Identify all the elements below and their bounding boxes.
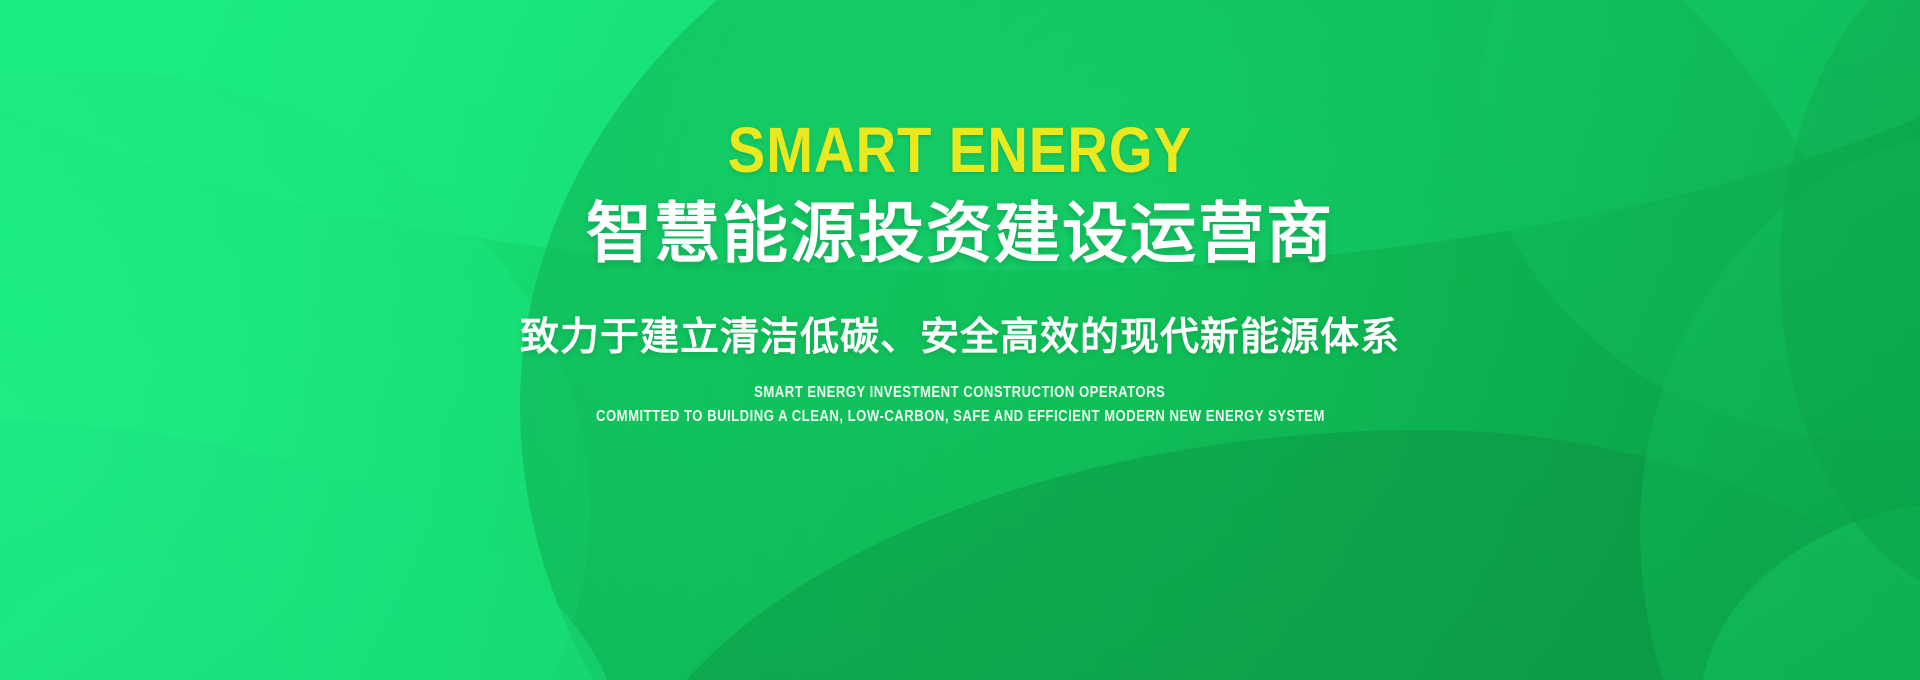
hero-banner: SMART ENERGY 智慧能源投资建设运营商 致力于建立清洁低碳、安全高效的… — [0, 0, 1920, 680]
tagline-block: SMART ENERGY INVESTMENT CONSTRUCTION OPE… — [516, 384, 1405, 427]
headline-chinese: 智慧能源投资建设运营商 — [586, 198, 1334, 269]
tagline-line-1: SMART ENERGY INVESTMENT CONSTRUCTION OPE… — [754, 384, 1165, 402]
headline-english: SMART ENERGY — [728, 118, 1192, 182]
banner-content: SMART ENERGY 智慧能源投资建设运营商 致力于建立清洁低碳、安全高效的… — [0, 0, 1920, 680]
subheadline-chinese: 致力于建立清洁低碳、安全高效的现代新能源体系 — [520, 315, 1400, 362]
tagline-line-2: COMMITTED TO BUILDING A CLEAN, LOW-CARBO… — [596, 408, 1325, 426]
